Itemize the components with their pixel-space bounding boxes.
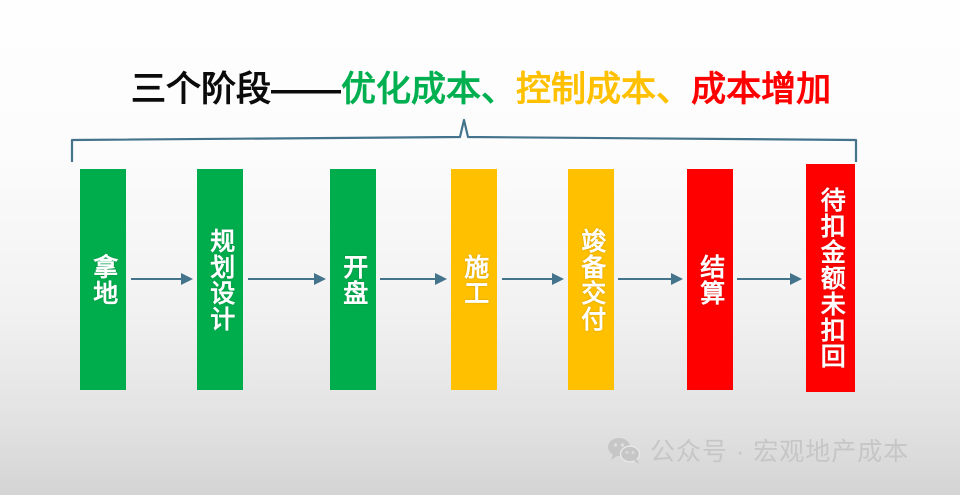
flow-node-label: 规划设计 bbox=[207, 228, 233, 332]
flow-node-label: 结算 bbox=[697, 254, 723, 306]
flow-arrow-2 bbox=[248, 272, 326, 286]
flow-node-nadi[interactable]: 拿地 bbox=[80, 169, 126, 390]
watermark: 公众号 · 宏观地产成本 bbox=[607, 432, 909, 468]
flow-arrow-5 bbox=[618, 272, 683, 286]
flow-node-label: 待扣金额未扣回 bbox=[818, 187, 844, 369]
flow-node-daikou-jine-weikouhui[interactable]: 待扣金额未扣回 bbox=[806, 164, 855, 392]
flow-arrow-4 bbox=[502, 272, 564, 286]
slide-canvas: 三个阶段——优化成本、控制成本、成本增加 拿地 规划设计 开盘 施工 bbox=[0, 0, 960, 495]
flow-node-label: 施工 bbox=[461, 254, 487, 306]
flow-node-shigong[interactable]: 施工 bbox=[451, 169, 497, 390]
flow-node-jiesuan[interactable]: 结算 bbox=[687, 169, 733, 390]
wechat-icon bbox=[607, 436, 641, 464]
flow-arrow-3 bbox=[380, 272, 447, 286]
flow-node-kaipan[interactable]: 开盘 bbox=[330, 169, 376, 390]
flow-node-guihua-sheji[interactable]: 规划设计 bbox=[197, 169, 243, 390]
flow-node-label: 开盘 bbox=[340, 254, 366, 306]
watermark-text: 公众号 · 宏观地产成本 bbox=[650, 432, 909, 468]
flow-arrow-1 bbox=[131, 272, 193, 286]
flow-node-junbei-jiaofu[interactable]: 竣备交付 bbox=[568, 169, 614, 390]
flow-node-label: 拿地 bbox=[90, 254, 116, 306]
flow-arrow-6 bbox=[737, 272, 802, 286]
flow-node-label: 竣备交付 bbox=[578, 228, 604, 332]
process-flow: 拿地 规划设计 开盘 施工 竣备交付 bbox=[0, 0, 960, 495]
